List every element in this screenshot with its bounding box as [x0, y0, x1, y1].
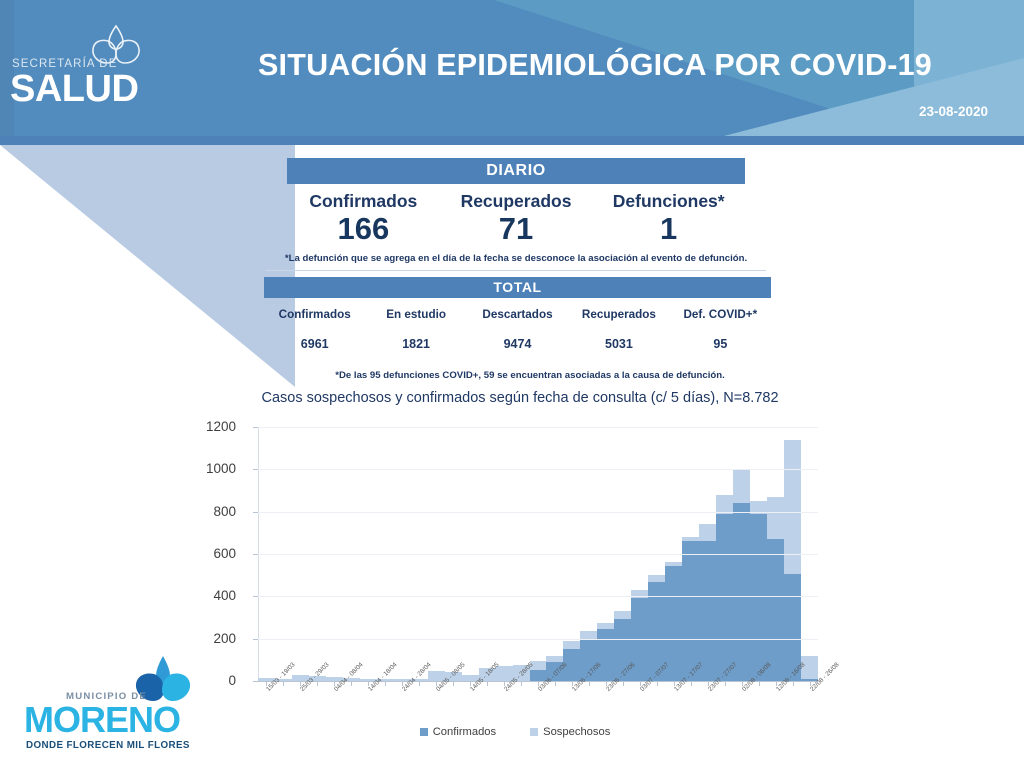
x-axis-tick-mark [487, 682, 488, 686]
legend-item[interactable]: Confirmados [420, 726, 496, 738]
bar-confirmados [682, 541, 699, 681]
epidemic-curve-chart: 02004006008001000120015/03 - 19/0325/03 … [195, 418, 835, 768]
bar-confirmados [699, 541, 716, 681]
legend-label: Sospechosos [543, 726, 610, 738]
chart-gridline [258, 427, 818, 428]
x-axis-tick-mark [283, 682, 284, 686]
x-axis-tick-mark [351, 682, 352, 686]
daily-footnote: *La defunción que se agrega en el día de… [266, 253, 766, 264]
x-axis-tick-mark [691, 682, 692, 686]
y-axis-tick-mark [253, 427, 258, 428]
y-axis-tick-label: 1200 [176, 419, 236, 434]
daily-stat-label: Recuperados [440, 190, 593, 212]
secretaria-de-salud-logo: SECRETARÍA DE SALUD [8, 18, 198, 108]
page-header: SECRETARÍA DE SALUD SITUACIÓN EPIDEMIOLÓ… [0, 0, 1024, 136]
total-value-confirmados: 6961 [264, 337, 365, 351]
y-axis-tick-mark [253, 469, 258, 470]
daily-stat-recuperados: Recuperados 71 [440, 190, 593, 246]
y-axis-tick-mark [253, 512, 258, 513]
chart-gridline [258, 512, 818, 513]
x-axis-tick-mark [521, 682, 522, 686]
chart-gridline [258, 554, 818, 555]
y-axis-tick-mark [253, 681, 258, 682]
total-section-header: TOTAL [264, 277, 771, 298]
total-header-row: Confirmados En estudio Descartados Recup… [264, 308, 771, 321]
legend-item[interactable]: Sospechosos [530, 726, 610, 738]
total-header-recuperados: Recuperados [568, 308, 669, 321]
y-axis-tick-label: 200 [176, 631, 236, 646]
y-axis-tick-mark [253, 639, 258, 640]
y-axis-tick-mark [253, 596, 258, 597]
daily-section-header: DIARIO [287, 158, 745, 184]
bar-confirmados [767, 539, 784, 681]
x-axis-tick-mark [555, 682, 556, 686]
logo-salud-label: SALUD [10, 68, 138, 111]
total-value-def-covid: 95 [670, 337, 771, 351]
chart-plot-area: 02004006008001000120015/03 - 19/0325/03 … [258, 427, 818, 682]
total-value-recuperados: 5031 [568, 337, 669, 351]
total-value-descartados: 9474 [467, 337, 568, 351]
chart-gridline [258, 469, 818, 470]
daily-stat-value: 166 [287, 212, 440, 246]
bar-confirmados [750, 514, 767, 681]
x-axis-tick-mark [623, 682, 624, 686]
logo-moreno-label: MORENO [24, 699, 180, 741]
x-axis-tick-mark [453, 682, 454, 686]
total-header-confirmados: Confirmados [264, 308, 365, 321]
x-axis-tick-mark [759, 682, 760, 686]
daily-stat-value: 1 [592, 212, 745, 246]
chart-gridline [258, 639, 818, 640]
x-axis-tick-mark [589, 682, 590, 686]
bar-confirmados [733, 503, 750, 681]
x-axis-tick-mark [725, 682, 726, 686]
y-axis-tick-label: 400 [176, 588, 236, 603]
chart-gridline [258, 596, 818, 597]
report-date: 23-08-2020 [919, 104, 988, 119]
daily-stat-label: Confirmados [287, 190, 440, 212]
logo-tagline: DONDE FLORECEN MIL FLORES [26, 740, 190, 751]
x-axis-tick-mark [385, 682, 386, 686]
daily-divider [266, 270, 766, 271]
total-header-def-covid: Def. COVID+* [670, 308, 771, 321]
municipio-de-moreno-logo: MUNICIPIO DE MORENO DONDE FLORECEN MIL F… [22, 655, 207, 755]
legend-swatch-icon [530, 728, 538, 736]
total-footnote: *De las 95 defunciones COVID+, 59 se enc… [250, 370, 810, 381]
bar-confirmados [716, 514, 733, 681]
daily-stat-label: Defunciones* [592, 190, 745, 212]
x-axis-tick-mark [419, 682, 420, 686]
y-axis-tick-label: 1000 [176, 461, 236, 476]
y-axis-tick-mark [253, 554, 258, 555]
left-decorative-wedge [0, 145, 295, 387]
total-value-en-estudio: 1821 [365, 337, 466, 351]
total-values-row: 6961 1821 9474 5031 95 [264, 337, 771, 351]
x-axis-tick-mark [317, 682, 318, 686]
y-axis-tick-label: 600 [176, 546, 236, 561]
daily-stat-value: 71 [440, 212, 593, 246]
chart-title: Casos sospechosos y confirmados según fe… [180, 390, 860, 406]
chart-legend: ConfirmadosSospechosos [195, 726, 835, 738]
daily-stat-confirmados: Confirmados 166 [287, 190, 440, 246]
legend-swatch-icon [420, 728, 428, 736]
daily-stat-defunciones: Defunciones* 1 [592, 190, 745, 246]
total-header-en-estudio: En estudio [365, 308, 466, 321]
bar-confirmados [597, 629, 614, 681]
x-axis-tick-mark [793, 682, 794, 686]
y-axis-tick-label: 800 [176, 504, 236, 519]
page-title: SITUACIÓN EPIDEMIOLÓGICA POR COVID-19 [200, 48, 990, 83]
x-axis-tick-mark [657, 682, 658, 686]
total-header-descartados: Descartados [467, 308, 568, 321]
legend-label: Confirmados [433, 726, 496, 738]
header-bottom-strip [0, 136, 1024, 145]
daily-stats-row: Confirmados 166 Recuperados 71 Defuncion… [287, 190, 745, 246]
